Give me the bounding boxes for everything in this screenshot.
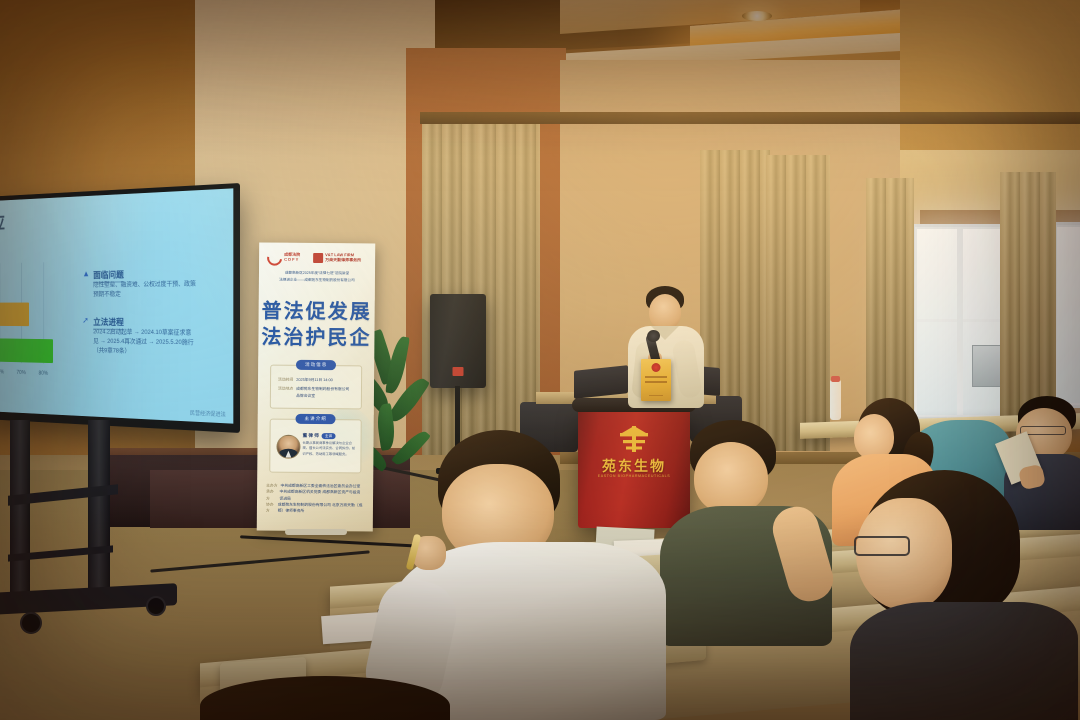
law-book[interactable] (641, 359, 671, 401)
info-value: 2025年9月11日 14:00 (296, 377, 333, 384)
seal-icon (313, 253, 323, 263)
speaker-tag: 主讲 (322, 433, 335, 439)
info-key: 活动地点 (278, 386, 293, 399)
organizer-value: 成都苑东生物制药股份有限公司 北京万商天勤（成都）律师事务所 (278, 501, 364, 514)
logo-line: 万商天勤律师事务所 (325, 258, 361, 263)
bullet-body: 隐性壁垒、融资难、公权过度干预、政策预期不稳定 (93, 280, 197, 300)
slide-bar-chart: 40% 50% 60% 70% 80% (0, 262, 63, 377)
front-right-torso (850, 602, 1078, 720)
curtain-rail (420, 112, 1080, 124)
jbl-badge-icon (453, 367, 464, 376)
organizer-value: 中共成都高新区机关党委 成都高新区资产与投资促进局 (279, 489, 364, 502)
cart-column-left (10, 420, 30, 605)
slide-footer: 民营经济促进法 (190, 409, 226, 419)
organizer-key: 承办方 (266, 489, 277, 502)
banner-eyebrow-1: 成都高新区2025年度“法律七进”法院讲堂 (266, 271, 368, 277)
banner-speaker-card: 主讲介绍 董 律 师 主讲 长期从事民商事争议解决与企业合规，擅长公司法实务、合… (269, 419, 361, 474)
olive-head (694, 442, 768, 514)
book-title-line (645, 381, 667, 383)
organizer-row: 协办方 成都苑东生物制药股份有限公司 北京万商天勤（成都）律师事务所 (266, 501, 364, 514)
banner-info-card: 活动信息 活动时间 2025年9月11日 14:00 活动地点 成都苑东生物制药… (270, 365, 362, 410)
x-tick: 70% (16, 370, 25, 376)
audience-front-right-woman (850, 470, 1080, 720)
info-key: 活动时间 (278, 377, 293, 383)
audience-bottom-left (200, 676, 450, 720)
bottom-left-hair (200, 676, 450, 720)
ceiling-downlight (742, 11, 772, 21)
cart-caster (146, 596, 166, 616)
slide-canvas: …治回应 …题占比 40% 50% 60% 70% 80% (0, 188, 233, 423)
organizer-row: 承办方 中共成都高新区机关党委 成都高新区资产与投资促进局 (266, 489, 364, 502)
pa-speaker (430, 294, 486, 388)
slide-bullet-problems: ▲ 面临问题 隐性壁垒、融资难、公权过度干预、政策预期不稳定 (82, 267, 205, 269)
info-row: 活动地点 成都苑东生物制药股份有限公司 品牌会议室 (278, 386, 354, 399)
banner-organizers: 主办方 中共成都高新区工委全面依法治区委员会办公室 承办方 中共成都高新区机关党… (266, 483, 364, 515)
speaker-name: 董 律 师 (303, 433, 319, 439)
window-right (1052, 222, 1080, 408)
trending-up-icon: ➚ (82, 316, 89, 324)
warning-triangle-icon: ▲ (82, 270, 89, 279)
national-emblem-icon (652, 363, 661, 372)
book-publisher-line (649, 395, 663, 397)
window-left (912, 224, 1010, 420)
banner-logo-row: 成都法院 C D F Y V&T LAW FIRM 万商天勤律师事务所 (267, 250, 367, 267)
speaker-bio: 长期从事民商事争议解决与企业合规，擅长公司法实务、合同纠纷、知识产权、劳动用工等… (302, 441, 355, 457)
curtain-center-right[interactable] (766, 155, 830, 451)
display-cart[interactable] (0, 420, 200, 640)
banner-headline-2: 法治护民企 (258, 320, 374, 350)
banner-base (285, 529, 347, 535)
bar-series-2 (0, 303, 29, 327)
presenter-head (649, 294, 681, 330)
conference-room-photo: …治回应 …题占比 40% 50% 60% 70% 80% (0, 0, 1080, 720)
x-tick: 80% (39, 371, 49, 377)
info-card-tab: 活动信息 (296, 360, 336, 370)
law-firm-logo: V&T LAW FIRM 万商天勤律师事务所 (313, 253, 361, 263)
organizer-key: 协办方 (266, 501, 275, 514)
bullet-body: 2024.2启动起草 → 2024.10草案征求意见 → 2025.4再次通过 … (93, 328, 197, 359)
chengdu-legal-logo: 成都法院 C D F Y (267, 251, 307, 265)
info-row: 活动时间 2025年9月11日 14:00 (278, 377, 354, 384)
banner-eyebrow-2: 法律进企业——成都苑东生物制药股份有限公司 (266, 278, 368, 284)
cart-caster (20, 612, 42, 634)
book-title-line (645, 376, 667, 378)
info-value: 成都苑东生物制药股份有限公司 品牌会议室 (296, 386, 354, 399)
swoosh-icon (264, 247, 285, 268)
display-bezel: …治回应 …题占比 40% 50% 60% 70% 80% (0, 183, 240, 433)
bottle-cap-icon (831, 376, 840, 382)
speaker-avatar (276, 435, 300, 459)
slide-title: …治回应 (0, 209, 6, 235)
front-right-glasses-icon (854, 536, 910, 556)
cart-column-right (88, 420, 110, 605)
roll-up-banner[interactable]: 成都法院 C D F Y V&T LAW FIRM 万商天勤律师事务所 成都高新… (257, 242, 376, 531)
presentation-display[interactable]: …治回应 …题占比 40% 50% 60% 70% 80% (0, 183, 240, 433)
x-tick: 60% (0, 370, 4, 376)
speaker-card-tab: 主讲介绍 (295, 414, 335, 424)
bar-series-3 (0, 338, 53, 364)
logo-line: C D F Y (284, 258, 300, 263)
